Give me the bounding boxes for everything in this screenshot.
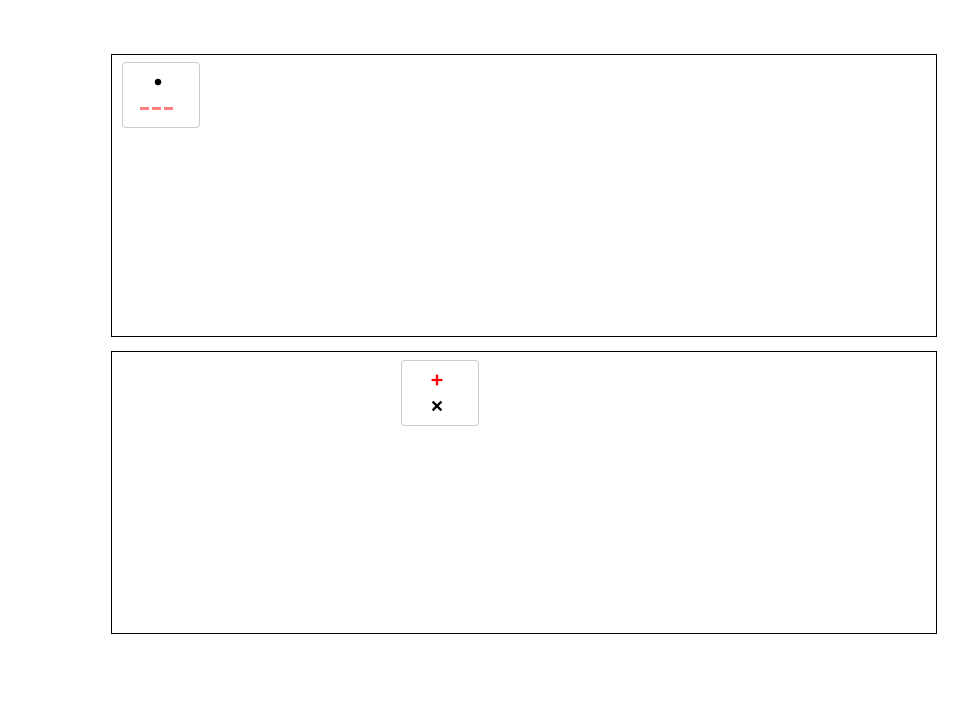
legend-item-predicted-stars <box>410 393 468 419</box>
bottom-panel-legend <box>401 360 479 426</box>
predicted-stars-cross-icon <box>410 399 464 413</box>
legend-item-matched-stars <box>410 367 468 393</box>
top-panel-plot-area <box>111 54 937 337</box>
top-panel-legend <box>122 62 200 128</box>
bottom-panel-plot-area <box>111 351 937 634</box>
matched-stars-plus-icon <box>410 373 464 387</box>
threshold-line-icon <box>131 107 185 110</box>
top-panel-data-layer <box>112 55 938 338</box>
legend-item-threshold <box>131 95 189 121</box>
figure-canvas <box>0 0 960 720</box>
legend-item-measurements <box>131 69 189 95</box>
bottom-panel-data-layer <box>112 352 938 635</box>
measurements-marker-icon <box>131 76 185 88</box>
